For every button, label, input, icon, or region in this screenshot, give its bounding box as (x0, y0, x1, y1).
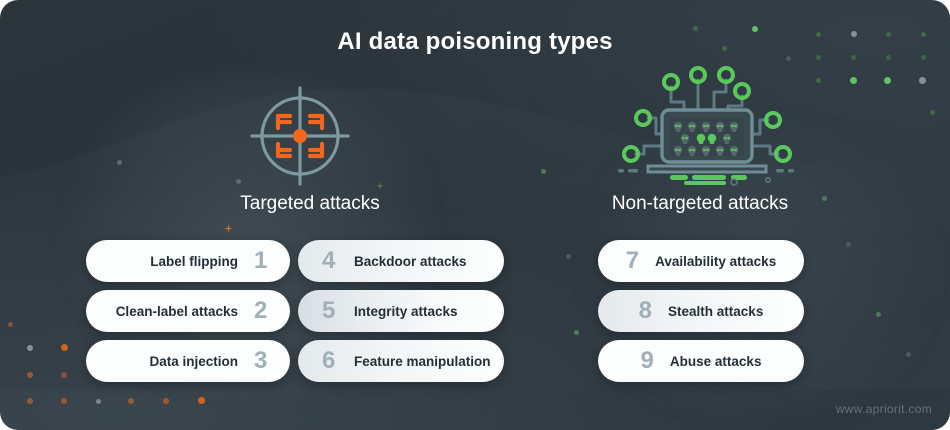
list-item-clean-label-attacks[interactable]: Clean-label attacks 2 (86, 290, 290, 332)
list-item-backdoor-attacks[interactable]: 4 Backdoor attacks (298, 240, 504, 282)
list-item-abuse-attacks[interactable]: 9 Abuse attacks (598, 340, 804, 382)
list-item-number: 8 (639, 299, 652, 323)
list-item-label: Stealth attacks (668, 304, 763, 319)
list-item-number: 1 (254, 249, 272, 273)
list-item-label-flipping[interactable]: Label flipping 1 (86, 240, 290, 282)
list-item-integrity-attacks[interactable]: 5 Integrity attacks (298, 290, 504, 332)
list-item-data-injection[interactable]: Data injection 3 (86, 340, 290, 382)
list-item-number: 2 (254, 299, 272, 323)
section-heading-non-targeted: Non-targeted attacks (500, 193, 900, 215)
list-item-number: 6 (322, 349, 338, 373)
list-item-feature-manipulation[interactable]: 6 Feature manipulation (298, 340, 504, 382)
laptop-skulls-network-icon (618, 62, 796, 186)
list-item-number: 3 (254, 349, 272, 373)
watermark-url: www.apriorit.com (836, 402, 932, 416)
list-item-label: Label flipping (150, 254, 238, 269)
list-item-number: 7 (626, 249, 639, 273)
list-item-stealth-attacks[interactable]: 8 Stealth attacks (598, 290, 804, 332)
page-title: AI data poisoning types (0, 28, 950, 56)
list-item-label: Abuse attacks (670, 354, 762, 369)
list-item-number: 9 (641, 349, 654, 373)
list-item-label: Availability attacks (655, 254, 776, 269)
list-item-label: Integrity attacks (354, 304, 458, 319)
list-item-label: Feature manipulation (354, 354, 491, 369)
list-item-label: Data injection (149, 354, 238, 369)
list-item-number: 5 (322, 299, 338, 323)
target-crosshair-icon (244, 84, 356, 188)
list-item-label: Clean-label attacks (116, 304, 238, 319)
list-item-availability-attacks[interactable]: 7 Availability attacks (598, 240, 804, 282)
infographic-card: AI data poisoning types (0, 0, 950, 430)
list-item-label: Backdoor attacks (354, 254, 467, 269)
section-heading-targeted: Targeted attacks (110, 193, 510, 215)
list-item-number: 4 (322, 249, 338, 273)
